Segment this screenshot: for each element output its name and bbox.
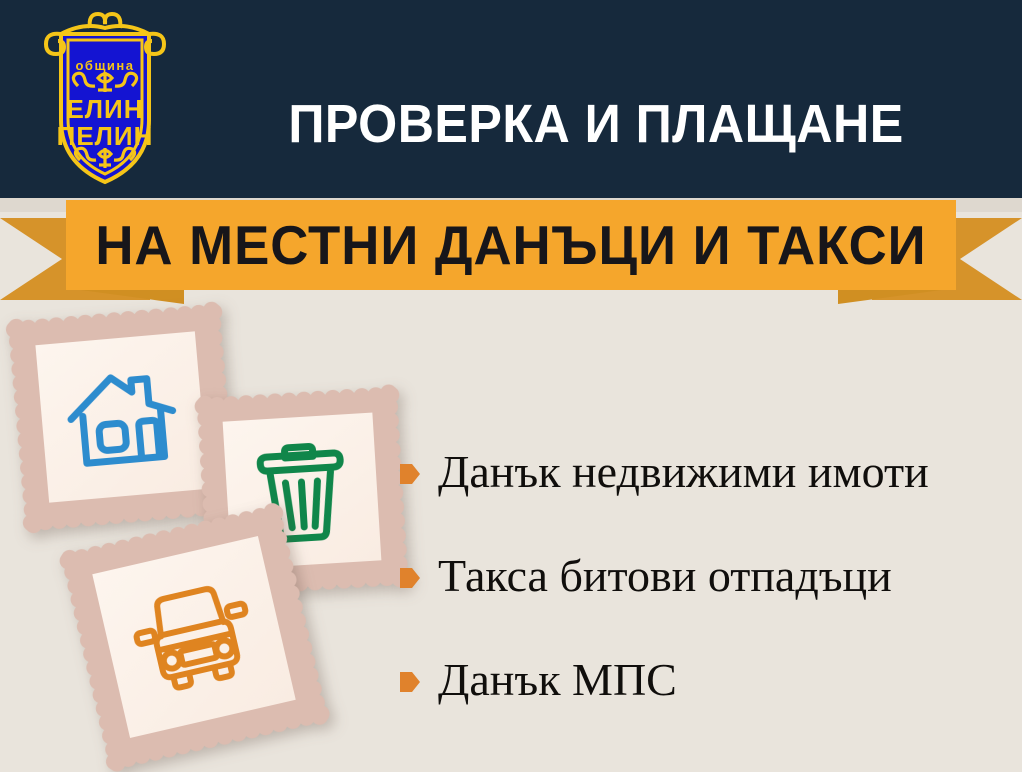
list-item-label: Данък недвижими имоти	[438, 446, 929, 498]
stamp-card-car	[67, 511, 321, 763]
list-item[interactable]: Данък МПС	[400, 628, 1010, 732]
tax-type-list: Данък недвижими имоти Такса битови отпад…	[400, 420, 1010, 732]
car-front-icon	[122, 572, 266, 701]
municipality-logo: община ЕЛИН ПЕЛИН	[38, 8, 172, 190]
ribbon-banner: НА МЕСТНИ ДАНЪЦИ И ТАКСИ	[0, 200, 1022, 305]
arrow-bullet-icon	[400, 670, 420, 694]
list-item[interactable]: Данък недвижими имоти	[400, 420, 1010, 524]
list-item-label: Такса битови отпадъци	[438, 550, 892, 602]
list-item[interactable]: Такса битови отпадъци	[400, 524, 1010, 628]
logo-name-line2: ПЕЛИН	[57, 121, 154, 151]
ribbon-label: НА МЕСТНИ ДАНЪЦИ И ТАКСИ	[95, 216, 926, 274]
poster-canvas: община ЕЛИН ПЕЛИН	[0, 0, 1022, 772]
page-title-line1: ПРОВЕРКА И ПЛАЩАНЕ	[215, 88, 978, 160]
header-bar: община ЕЛИН ПЕЛИН	[0, 0, 1022, 198]
logo-small-text: община	[75, 58, 134, 73]
arrow-bullet-icon	[400, 566, 420, 590]
list-item-label: Данък МПС	[438, 654, 677, 706]
stamp-inner-house	[35, 331, 208, 502]
house-icon	[62, 360, 183, 473]
logo-name-line1: ЕЛИН	[66, 94, 143, 124]
icon-stamp-group	[0, 300, 420, 772]
ribbon-main-panel: НА МЕСТНИ ДАНЪЦИ И ТАКСИ	[66, 200, 956, 290]
page-title: ПРОВЕРКА И ПЛАЩАНЕ НА ЗАДЪЛЖЕНИЯ	[215, 16, 978, 198]
arrow-bullet-icon	[400, 462, 420, 486]
